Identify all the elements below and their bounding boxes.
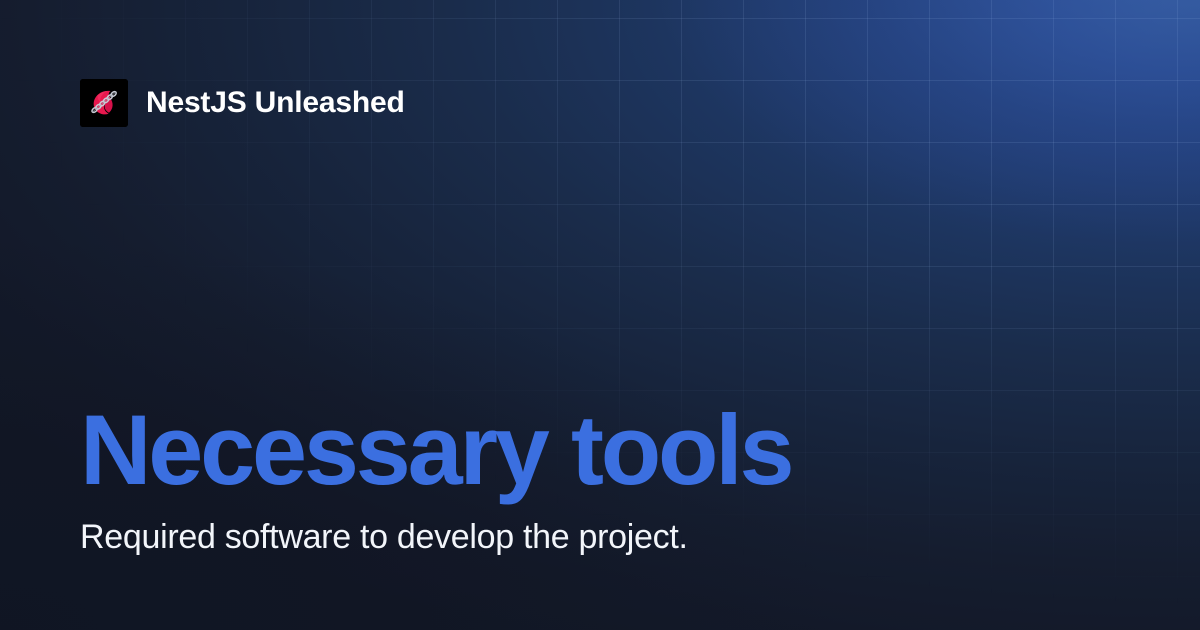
hero-text-block: Necessary tools Required software to dev… (80, 400, 1120, 558)
page-subtitle: Required software to develop the project… (80, 517, 1120, 558)
nestjs-chain-logo-icon (80, 79, 128, 127)
page-title: Necessary tools (80, 400, 1120, 499)
og-card: NestJS Unleashed Necessary tools Require… (0, 0, 1200, 630)
card-content: NestJS Unleashed Necessary tools Require… (0, 0, 1200, 630)
brand-header: NestJS Unleashed (80, 79, 405, 127)
brand-name: NestJS Unleashed (146, 88, 405, 118)
